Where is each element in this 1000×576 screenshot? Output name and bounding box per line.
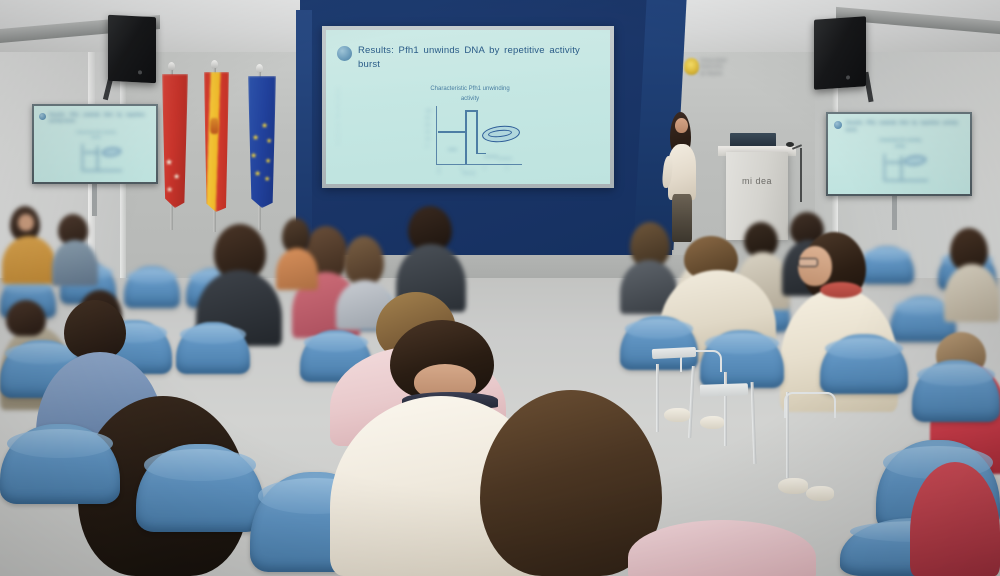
madrid-star-icon-3: ★: [166, 186, 173, 194]
right-chart-y-axis: [884, 154, 885, 180]
ceiling-speaker-left: [108, 15, 156, 84]
person-shoulders: [944, 264, 1000, 322]
left-screen-mount-post: [92, 182, 97, 216]
left-chart-trace: [84, 152, 98, 153]
audience-person: [52, 214, 100, 286]
left-chart-x-axis: [82, 170, 122, 171]
madrid-star-icon-1: ★: [165, 158, 173, 167]
left-slide-surface: Results: Pfh1 unwinds DNA by repetitive …: [34, 106, 156, 182]
audience-person: [944, 228, 1000, 320]
person-collar: [820, 282, 862, 298]
flag-european-union: ★ ★ ★ ★ ★ ★ ★: [248, 76, 276, 208]
chart-trace-noise-1: [448, 149, 457, 150]
seat-writing-tablet[interactable]: [700, 383, 748, 397]
chart-y-axis: [436, 106, 437, 164]
shoe: [806, 486, 834, 501]
wall-logo-text: Universidad Autónoma de Madrid: [700, 58, 756, 77]
chart-y-tick-labels: 100806040200: [426, 108, 431, 150]
right-chart-trace: [886, 162, 902, 163]
chart-trace-plateau: [438, 131, 466, 133]
person-shoulders: [276, 248, 318, 290]
slide-chart-title-line2: activity: [400, 96, 540, 102]
eyeglasses-icon: [798, 258, 818, 267]
shoe: [700, 416, 724, 429]
chart-trace-noise-2: [484, 156, 498, 157]
slide-chart: 100806040200 0 2 4 6 8 Time (s): [424, 104, 532, 176]
audience-person-foreground: [628, 520, 818, 576]
slide-bullet-icon: [337, 46, 352, 61]
seat[interactable]: [820, 334, 908, 394]
presenter-head: [675, 118, 688, 133]
ceiling-speaker-right: [814, 16, 866, 90]
shoe: [778, 478, 808, 494]
main-slide-surface: Results: Pfh1 unwinds DNA by repetitive …: [326, 30, 610, 184]
chart-trace-drop: [465, 110, 467, 164]
microphone-head: [786, 142, 794, 147]
left-slide-chart-title2: activity: [64, 135, 128, 139]
slide-sidebar-label: unwinding activity: [336, 88, 341, 172]
person-hair: [282, 218, 310, 252]
flag-spain: [204, 72, 229, 212]
eu-star-icon-6: ★: [254, 170, 261, 178]
right-slide-title: Results: Pfh1 unwinds DNA by repetitive …: [846, 120, 958, 133]
lecture-hall-scene: Universidad Autónoma de Madrid ★ ★ ★ ★ ★…: [0, 0, 1000, 576]
right-chart-annotation: [904, 155, 927, 166]
eu-star-icon-3: ★: [266, 138, 272, 145]
eu-star-icon-1: ★: [261, 122, 268, 130]
wall-logo-line3: de Madrid: [700, 71, 756, 77]
audience-person: [276, 218, 318, 288]
main-projection-screen[interactable]: Results: Pfh1 unwinds DNA by repetitive …: [322, 26, 614, 188]
spain-coat-of-arms-icon: [210, 118, 219, 134]
audience-person-foreground: [910, 462, 1000, 576]
right-repeater-screen[interactable]: Results: Pfh1 unwinds DNA by repetitive …: [826, 112, 972, 196]
person-hair: [64, 300, 126, 358]
right-slide-chart-title2: activity: [864, 144, 936, 148]
right-slide-bullet-icon: [834, 121, 842, 129]
chart-trace-peak-right: [476, 110, 478, 154]
left-slide-bullet-icon: [39, 113, 46, 120]
seat[interactable]: [136, 444, 264, 532]
eu-star-icon-5: ★: [265, 158, 271, 165]
right-chart-x-axis: [884, 180, 928, 181]
slide-title: Results: Pfh1 unwinds DNA by repetitive …: [358, 44, 580, 72]
chart-x-tick-labels: 0 2 4 6 8: [438, 166, 532, 174]
left-chart-annotation: [102, 147, 122, 157]
slide-chart-title-line1: Characteristic Pfh1 unwinding: [400, 86, 540, 92]
person-shoulders: [910, 462, 1000, 576]
seat[interactable]: [176, 322, 250, 374]
right-slide-surface: Results: Pfh1 unwinds DNA by repetitive …: [828, 114, 970, 194]
seat[interactable]: [912, 360, 1000, 422]
chart-x-axis: [436, 164, 522, 165]
right-slide-chart-title1: Characteristic Pfh1 unwinding: [864, 138, 936, 142]
microphone-stand: [800, 148, 802, 202]
flag-madrid: ★ ★ ★: [162, 74, 188, 208]
left-repeater-screen[interactable]: Results: Pfh1 unwinds DNA by repetitive …: [32, 104, 158, 184]
left-chart-drop: [97, 146, 98, 170]
seat-armrest: [784, 392, 836, 418]
audience-person: [0, 206, 58, 286]
eu-star-icon-2: ★: [252, 134, 259, 142]
seat[interactable]: [0, 424, 120, 504]
right-screen-mount-post: [892, 194, 897, 230]
person-hair: [344, 236, 384, 284]
person-head: [18, 214, 34, 231]
wall-crest-icon: [684, 58, 699, 75]
person-shoulders: [52, 240, 98, 286]
madrid-star-icon-2: ★: [173, 173, 180, 181]
eu-star-icon-4: ★: [250, 152, 257, 160]
presenter-blazer: [668, 144, 696, 200]
person-shoulders: [2, 236, 56, 284]
left-chart-y-axis: [82, 144, 83, 170]
person-shoulders: [628, 520, 816, 576]
left-slide-chart-title1: Characteristic Pfh1 unwinding: [64, 130, 128, 134]
podium-logo-text: mi dea: [730, 176, 784, 192]
chart-trace-noise-3: [498, 158, 512, 159]
left-slide-title: Results: Pfh1 unwinds DNA by repetitive …: [49, 112, 145, 124]
chart-x-axis-caption: Time (s): [462, 171, 475, 175]
eu-star-icon-7: ★: [264, 176, 270, 183]
chart-trace-tail: [476, 153, 486, 154]
right-chart-drop: [901, 156, 902, 180]
